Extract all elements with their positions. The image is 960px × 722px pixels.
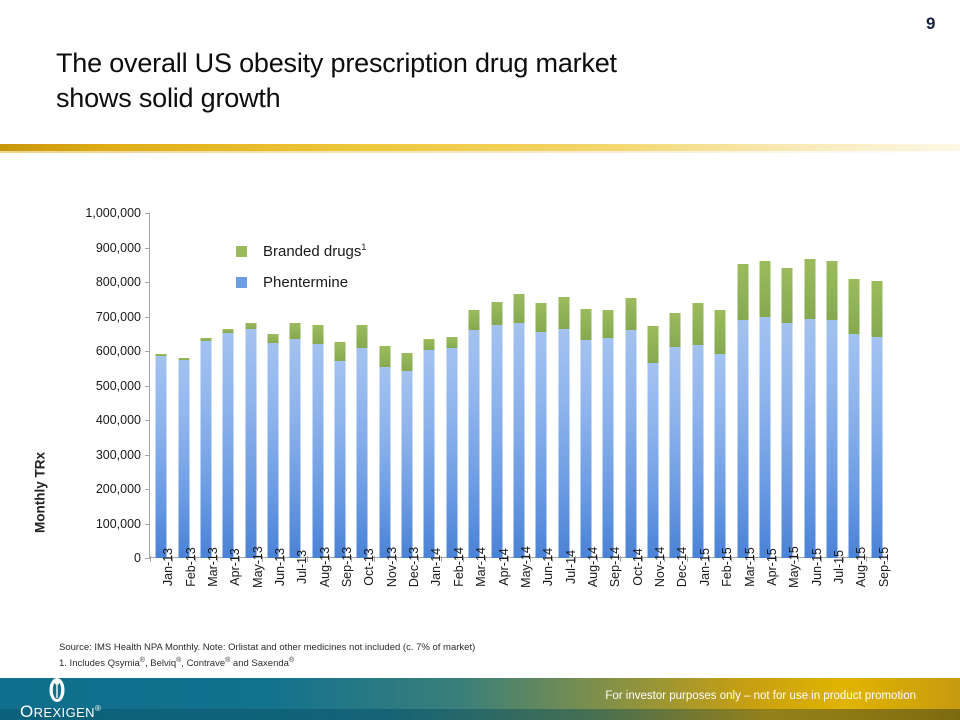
bar-segment-branded-drugs[interactable] [715, 310, 726, 354]
stacked-bar[interactable] [156, 354, 167, 558]
bar-slot[interactable] [463, 213, 485, 558]
x-axis-labels: Jan-13Feb-13Mar-13Apr-13May-13Jun-13Jul-… [150, 563, 888, 623]
x-axis-tick-mark [642, 556, 643, 562]
x-axis-label-slot: Dec-13 [396, 563, 418, 623]
bar-segment-branded-drugs[interactable] [648, 326, 659, 363]
stacked-bar[interactable] [402, 353, 413, 558]
stacked-bar[interactable] [737, 264, 748, 558]
bar-segment-branded-drugs[interactable] [670, 313, 681, 347]
bar-segment-phentermine[interactable] [536, 332, 547, 558]
stacked-bar[interactable] [670, 313, 681, 558]
bar-segment-branded-drugs[interactable] [469, 310, 480, 331]
bar-segment-phentermine[interactable] [715, 354, 726, 558]
bar-segment-phentermine[interactable] [290, 339, 301, 558]
x-axis-label-slot: Nov-13 [374, 563, 396, 623]
bar-segment-phentermine[interactable] [267, 343, 278, 558]
stacked-bar[interactable] [491, 302, 502, 558]
x-axis-tick-mark [262, 556, 263, 562]
bar-segment-branded-drugs[interactable] [290, 323, 301, 340]
orexigen-wordmark: OREXIGEN® [20, 702, 101, 722]
x-axis-label-slot: Jan-15 [687, 563, 709, 623]
x-axis-label-slot: Mar-15 [731, 563, 753, 623]
x-axis-tick-mark [150, 556, 151, 562]
bar-segment-phentermine[interactable] [223, 333, 234, 558]
bar-segment-branded-drugs[interactable] [849, 279, 860, 334]
x-axis-tick-mark [239, 556, 240, 562]
x-axis-label-slot: Oct-14 [620, 563, 642, 623]
bar-segment-branded-drugs[interactable] [782, 268, 793, 323]
stacked-bar[interactable] [267, 334, 278, 558]
bar-segment-phentermine[interactable] [804, 319, 815, 558]
x-axis-tick-mark [664, 556, 665, 562]
x-axis-label-slot: Jun-13 [262, 563, 284, 623]
bar-slot[interactable] [620, 213, 642, 558]
bar-segment-branded-drugs[interactable] [513, 294, 524, 323]
bar-slot[interactable] [195, 213, 217, 558]
bar-segment-branded-drugs[interactable] [267, 334, 278, 343]
x-axis-label-slot: Feb-14 [441, 563, 463, 623]
page-title: The overall US obesity prescription drug… [56, 46, 816, 116]
bar-segment-branded-drugs[interactable] [871, 281, 882, 337]
bar-slot[interactable] [150, 213, 172, 558]
x-axis-label-slot: Jan-13 [150, 563, 172, 623]
bar-segment-branded-drugs[interactable] [826, 261, 837, 320]
bar-segment-phentermine[interactable] [200, 341, 211, 558]
bar-segment-phentermine[interactable] [849, 334, 860, 558]
stacked-bar[interactable] [782, 268, 793, 558]
x-axis-label-slot: Aug-13 [307, 563, 329, 623]
bar-segment-branded-drugs[interactable] [625, 298, 636, 330]
x-axis-tick-mark [217, 556, 218, 562]
bar-segment-phentermine[interactable] [737, 320, 748, 558]
bar-slot[interactable] [754, 213, 776, 558]
bar-segment-phentermine[interactable] [491, 325, 502, 558]
stacked-bar[interactable] [335, 342, 346, 558]
legend-label-phentermine: Phentermine [263, 274, 348, 291]
bar-segment-phentermine[interactable] [335, 361, 346, 558]
bar-slot[interactable] [687, 213, 709, 558]
x-axis-tick-mark [284, 556, 285, 562]
legend-square-blue-icon [236, 277, 247, 288]
header-divider [0, 144, 960, 151]
bar-segment-phentermine[interactable] [402, 371, 413, 558]
x-axis-label-slot: May-14 [508, 563, 530, 623]
y-axis-tick-label: 200,000 [45, 482, 150, 496]
bar-slot[interactable] [575, 213, 597, 558]
stacked-bar[interactable] [558, 297, 569, 558]
x-axis-tick-mark [329, 556, 330, 562]
bar-segment-phentermine[interactable] [446, 348, 457, 558]
bar-segment-phentermine[interactable] [312, 344, 323, 558]
bar-slot[interactable] [821, 213, 843, 558]
bar-segment-phentermine[interactable] [357, 348, 368, 558]
bar-segment-phentermine[interactable] [670, 347, 681, 558]
x-axis-label-slot: Jul-14 [552, 563, 574, 623]
legend-label-branded-drugs: Branded drugs1 [263, 242, 366, 260]
bar-segment-branded-drugs[interactable] [804, 259, 815, 318]
bar-segment-phentermine[interactable] [759, 317, 770, 558]
chart-legend: Branded drugs1 Phentermine [236, 242, 366, 305]
x-axis-tick-mark [620, 556, 621, 562]
bar-segment-branded-drugs[interactable] [692, 303, 703, 345]
y-axis-tick-label: 300,000 [45, 448, 150, 462]
stacked-bar[interactable] [804, 259, 815, 558]
x-axis-label-slot: Sep-14 [597, 563, 619, 623]
bar-segment-branded-drugs[interactable] [379, 346, 390, 367]
legend-square-green-icon [236, 246, 247, 257]
stacked-bar[interactable] [849, 279, 860, 558]
bar-slot[interactable] [374, 213, 396, 558]
bar-slot[interactable] [485, 213, 507, 558]
stacked-bar[interactable] [625, 298, 636, 558]
x-axis-label-slot: Feb-13 [172, 563, 194, 623]
bar-slot[interactable] [396, 213, 418, 558]
bar-slot[interactable] [843, 213, 865, 558]
bar-segment-branded-drugs[interactable] [357, 325, 368, 348]
y-axis-tick-label: 600,000 [45, 344, 150, 358]
stacked-bar[interactable] [826, 261, 837, 558]
x-axis-label-slot: Jun-15 [798, 563, 820, 623]
stacked-bar[interactable] [692, 303, 703, 558]
page-title-line-1: The overall US obesity prescription drug… [56, 46, 816, 81]
bar-segment-branded-drugs[interactable] [536, 303, 547, 333]
x-axis-tick-mark [307, 556, 308, 562]
x-axis-label-slot: Oct-13 [351, 563, 373, 623]
bar-segment-phentermine[interactable] [871, 337, 882, 558]
x-axis-label-slot: Mar-14 [463, 563, 485, 623]
orexigen-logo: OREXIGEN® [18, 676, 178, 720]
bar-segment-phentermine[interactable] [648, 363, 659, 558]
x-axis-tick-mark [709, 556, 710, 562]
x-axis-tick-mark [798, 556, 799, 562]
x-axis-label-slot: Sep-13 [329, 563, 351, 623]
bar-segment-phentermine[interactable] [513, 323, 524, 558]
x-axis-tick-mark [843, 556, 844, 562]
bar-slot[interactable] [552, 213, 574, 558]
x-axis-tick-mark [866, 556, 867, 562]
bar-segment-branded-drugs[interactable] [759, 261, 770, 318]
bar-segment-branded-drugs[interactable] [737, 264, 748, 320]
bar-segment-phentermine[interactable] [826, 320, 837, 558]
bar-slot[interactable] [642, 213, 664, 558]
bar-segment-branded-drugs[interactable] [558, 297, 569, 329]
stacked-bar[interactable] [513, 294, 524, 558]
x-axis-label-slot: Feb-15 [709, 563, 731, 623]
x-axis-tick-mark [821, 556, 822, 562]
x-axis-tick-mark [597, 556, 598, 562]
x-axis-label-slot: Apr-15 [754, 563, 776, 623]
bar-segment-phentermine[interactable] [156, 356, 167, 558]
footnotes: Source: IMS Health NPA Monthly. Note: Or… [59, 641, 759, 670]
bar-segment-phentermine[interactable] [424, 350, 435, 558]
x-axis-tick-mark [754, 556, 755, 562]
bar-segment-branded-drugs[interactable] [335, 342, 346, 361]
x-axis-label-slot: Jun-14 [530, 563, 552, 623]
stacked-bar[interactable] [446, 337, 457, 558]
page-title-line-2: shows solid growth [56, 81, 816, 116]
y-axis-tick-label: 700,000 [45, 310, 150, 324]
bar-segment-phentermine[interactable] [469, 330, 480, 558]
x-axis-tick-mark [195, 556, 196, 562]
x-axis-label-slot: Jul-15 [821, 563, 843, 623]
x-axis-tick-mark [731, 556, 732, 562]
bar-slot[interactable] [597, 213, 619, 558]
stacked-bar[interactable] [200, 338, 211, 558]
x-axis-label-slot: May-15 [776, 563, 798, 623]
x-axis-label-slot: May-13 [239, 563, 261, 623]
x-axis-label-slot: Aug-15 [843, 563, 865, 623]
x-axis-label-slot: Apr-13 [217, 563, 239, 623]
bar-slot[interactable] [866, 213, 888, 558]
x-axis-tick-mark [351, 556, 352, 562]
x-axis-tick-mark [441, 556, 442, 562]
y-axis-tick-label: 400,000 [45, 413, 150, 427]
stacked-bar[interactable] [648, 326, 659, 558]
bar-segment-phentermine[interactable] [625, 330, 636, 558]
orexigen-logo-icon [44, 677, 70, 703]
bar-segment-branded-drugs[interactable] [581, 309, 592, 340]
x-axis-label-slot: Mar-13 [195, 563, 217, 623]
x-axis-tick-mark [418, 556, 419, 562]
x-axis-tick-mark [396, 556, 397, 562]
bar-segment-phentermine[interactable] [782, 323, 793, 558]
legend-item-branded-drugs: Branded drugs1 [236, 242, 366, 260]
x-axis-tick-mark [776, 556, 777, 562]
stacked-bar[interactable] [379, 346, 390, 558]
chart: Monthly TRx 1,000,000900,000800,000700,0… [0, 185, 960, 635]
stacked-bar[interactable] [715, 310, 726, 558]
x-axis-tick-mark [687, 556, 688, 562]
y-axis-tick-label: 500,000 [45, 379, 150, 393]
stacked-bar[interactable] [871, 281, 882, 558]
bar-segment-branded-drugs[interactable] [491, 302, 502, 325]
stacked-bar[interactable] [312, 325, 323, 558]
stacked-bar[interactable] [223, 329, 234, 558]
x-axis-tick-mark [485, 556, 486, 562]
footer-disclaimer: For investor purposes only – not for use… [605, 690, 916, 702]
bar-segment-branded-drugs[interactable] [424, 339, 435, 350]
page-number: 9 [926, 14, 936, 34]
stacked-bar[interactable] [536, 303, 547, 558]
bar-slot[interactable] [798, 213, 820, 558]
bar-segment-branded-drugs[interactable] [312, 325, 323, 344]
bar-segment-phentermine[interactable] [692, 345, 703, 558]
bar-slot[interactable] [530, 213, 552, 558]
x-axis-label-slot: Nov-14 [642, 563, 664, 623]
bar-segment-phentermine[interactable] [581, 340, 592, 558]
x-axis-tick-mark [508, 556, 509, 562]
x-axis-tick-mark [172, 556, 173, 562]
bar-segment-branded-drugs[interactable] [402, 353, 413, 372]
y-axis-tick-label: 100,000 [45, 517, 150, 531]
legend-item-phentermine: Phentermine [236, 274, 366, 291]
bar-segment-branded-drugs[interactable] [603, 310, 614, 338]
bar-slot[interactable] [664, 213, 686, 558]
x-axis-tick-label: Sep-15 [877, 547, 891, 587]
footnote-source: Source: IMS Health NPA Monthly. Note: Or… [59, 641, 759, 654]
stacked-bar[interactable] [290, 323, 301, 558]
bar-segment-branded-drugs[interactable] [446, 337, 457, 348]
bar-slot[interactable] [508, 213, 530, 558]
bar-segment-phentermine[interactable] [178, 360, 189, 558]
stacked-bar[interactable] [581, 309, 592, 558]
bar-slot[interactable] [441, 213, 463, 558]
stacked-bar[interactable] [357, 325, 368, 558]
footnote-branded-list: 1. Includes Qsymia®, Belviq®, Contrave® … [59, 654, 759, 670]
x-axis-label-slot: Jan-14 [418, 563, 440, 623]
bar-slot[interactable] [731, 213, 753, 558]
x-axis-tick-mark [552, 556, 553, 562]
bar-slot[interactable] [418, 213, 440, 558]
x-axis-label-slot: Sep-15 [866, 563, 888, 623]
bar-slot[interactable] [709, 213, 731, 558]
y-axis-tick-label: 800,000 [45, 275, 150, 289]
stacked-bar[interactable] [178, 358, 189, 558]
x-axis-label-slot: Dec-14 [664, 563, 686, 623]
bar-slot[interactable] [172, 213, 194, 558]
x-axis-label-slot: Jul-13 [284, 563, 306, 623]
x-axis-label-slot: Aug-14 [575, 563, 597, 623]
stacked-bar[interactable] [424, 339, 435, 558]
stacked-bar[interactable] [603, 310, 614, 558]
y-axis-tick-label: 0 [45, 551, 150, 565]
x-axis-tick-mark [374, 556, 375, 562]
bar-segment-phentermine[interactable] [603, 338, 614, 558]
bar-segment-phentermine[interactable] [379, 367, 390, 558]
y-axis-tick-label: 1,000,000 [45, 206, 150, 220]
stacked-bar[interactable] [759, 261, 770, 558]
x-axis-label-slot: Apr-14 [485, 563, 507, 623]
bar-segment-phentermine[interactable] [245, 329, 256, 558]
bar-segment-phentermine[interactable] [558, 329, 569, 558]
x-axis-tick-mark [530, 556, 531, 562]
x-axis-tick-mark [463, 556, 464, 562]
stacked-bar[interactable] [245, 323, 256, 558]
y-axis-tick-label: 900,000 [45, 241, 150, 255]
stacked-bar[interactable] [469, 310, 480, 558]
footer-bar: OREXIGEN® For investor purposes only – n… [0, 678, 960, 720]
x-axis-tick-mark [575, 556, 576, 562]
bar-slot[interactable] [776, 213, 798, 558]
